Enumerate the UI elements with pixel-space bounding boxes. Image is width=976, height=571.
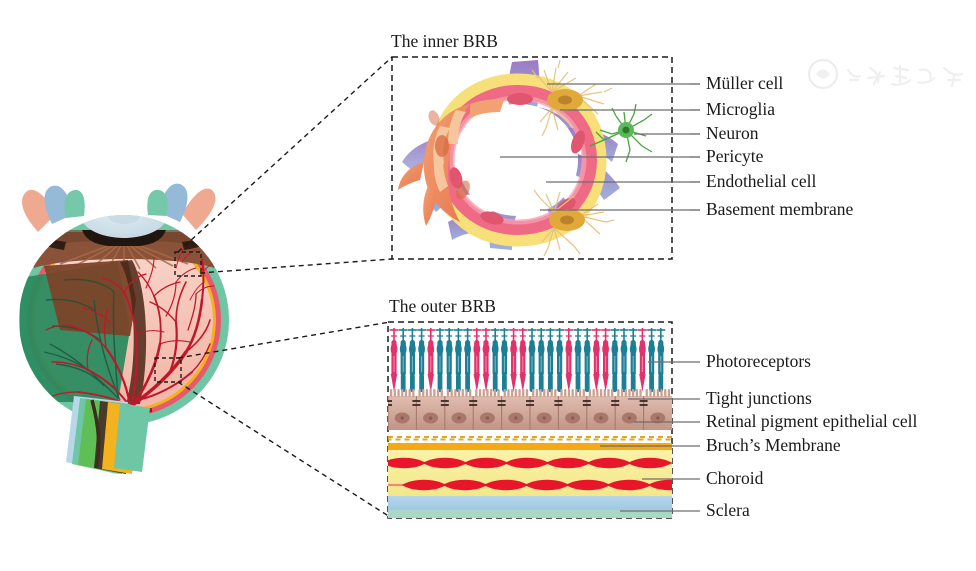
inner-brb-title: The inner BRB [391,33,498,51]
optic-nerve [66,396,150,474]
label-sclera: Sclera [706,502,750,520]
label-muller-cell: Müller cell [706,75,783,93]
label-microglia: Microglia [706,101,775,119]
label-basement-membrane: Basement membrane [706,201,853,219]
label-dashes [690,84,700,210]
label-tight-junctions: Tight junctions [706,390,812,408]
label-endothelial-cell: Endothelial cell [706,173,816,191]
outer-brb-title: The outer BRB [389,298,496,316]
pericyte-nucleus [435,135,449,157]
label-pericyte: Pericyte [706,148,763,166]
label-choroid: Choroid [706,470,763,488]
sclera-layer [388,496,672,512]
label-rpe-cell: Retinal pigment epithelial cell [706,413,917,431]
capillary-lumen [458,104,578,216]
eye-anatomy-illustration [19,184,229,474]
label-neuron: Neuron [706,125,758,143]
retinal-blood-barrier-diagram [0,0,976,571]
label-photoreceptors: Photoreceptors [706,353,811,371]
label-bruchs-membrane: Bruch’s Membrane [706,437,841,455]
